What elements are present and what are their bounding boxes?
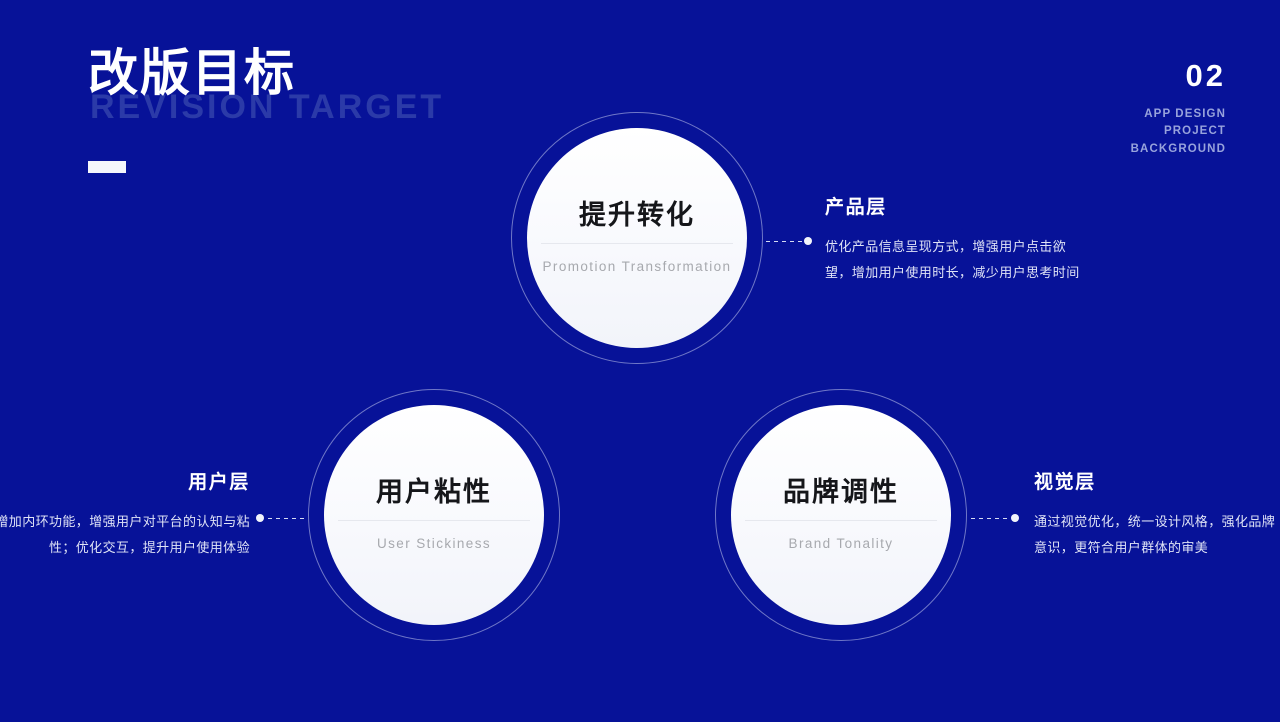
connector-dot-visual <box>1011 514 1019 522</box>
callout-visual-layer: 视觉层 通过视觉优化，统一设计风格，强化品牌意识，更符合用户群体的审美 <box>1034 473 1280 561</box>
callout-heading-user: 用户层 <box>0 473 250 492</box>
connector-dot-product <box>804 237 812 245</box>
callout-product-layer: 产品层 优化产品信息呈现方式，增强用户点击欲望，增加用户使用时长，减少用户思考时… <box>825 198 1083 286</box>
circle-user-stickiness[interactable]: 用户粘性 User Stickiness <box>324 405 544 625</box>
circle-divider-tonality <box>745 520 937 521</box>
circle-brand-tonality[interactable]: 品牌调性 Brand Tonality <box>731 405 951 625</box>
circle-subtitle-stickiness: User Stickiness <box>377 537 491 551</box>
connector-dot-user <box>256 514 264 522</box>
callout-body-user: 增加内环功能，增强用户对平台的认知与粘性；优化交互，提升用户使用体验 <box>0 509 250 561</box>
callout-heading-product: 产品层 <box>825 198 1083 217</box>
callout-body-product: 优化产品信息呈现方式，增强用户点击欲望，增加用户使用时长，减少用户思考时间 <box>825 234 1083 286</box>
callout-body-visual: 通过视觉优化，统一设计风格，强化品牌意识，更符合用户群体的审美 <box>1034 509 1280 561</box>
circle-content-stickiness: 用户粘性 User Stickiness <box>324 405 544 625</box>
title-underline-bar <box>88 161 126 173</box>
page-title: 改版目标 <box>88 48 296 98</box>
circle-promotion-transformation[interactable]: 提升转化 Promotion Transformation <box>527 128 747 348</box>
circle-content-promotion: 提升转化 Promotion Transformation <box>527 128 747 348</box>
circle-subtitle-tonality: Brand Tonality <box>789 537 894 551</box>
callout-user-layer: 用户层 增加内环功能，增强用户对平台的认知与粘性；优化交互，提升用户使用体验 <box>0 473 250 561</box>
circle-title-tonality: 品牌调性 <box>783 479 899 506</box>
circle-content-tonality: 品牌调性 Brand Tonality <box>731 405 951 625</box>
slide-canvas: REVISION TARGET 改版目标 02 APP DESIGN PROJE… <box>0 0 1280 722</box>
connector-line-user <box>268 518 305 519</box>
circle-divider-stickiness <box>338 520 530 521</box>
circle-title-promotion: 提升转化 <box>579 202 695 229</box>
callout-heading-visual: 视觉层 <box>1034 473 1280 492</box>
circle-divider-promotion <box>541 243 733 244</box>
connector-line-visual <box>971 518 1008 519</box>
circle-title-stickiness: 用户粘性 <box>376 479 492 506</box>
circle-subtitle-promotion: Promotion Transformation <box>543 260 732 274</box>
connector-line-product <box>766 241 802 242</box>
